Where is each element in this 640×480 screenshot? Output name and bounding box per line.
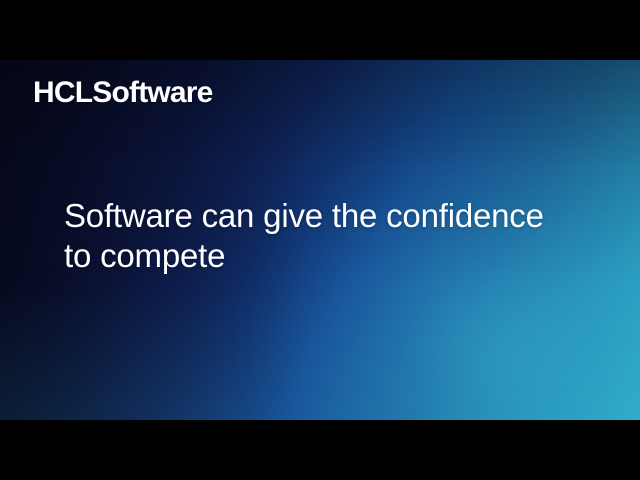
brand-logo-hclsoftware: HCLSoftware [33, 78, 213, 108]
slide-headline-line-1: Software can give the confidence [64, 196, 594, 236]
letterbox-bar-top [0, 0, 640, 60]
letterbox-bar-bottom [0, 420, 640, 480]
video-frame: HCLSoftware Software can give the confid… [0, 0, 640, 480]
slide-headline: Software can give the confidence to comp… [64, 196, 594, 276]
brand-logo-hcl: HCL [33, 76, 92, 109]
slide-headline-line-2: to compete [64, 236, 594, 276]
brand-logo-software: Software [92, 76, 212, 109]
